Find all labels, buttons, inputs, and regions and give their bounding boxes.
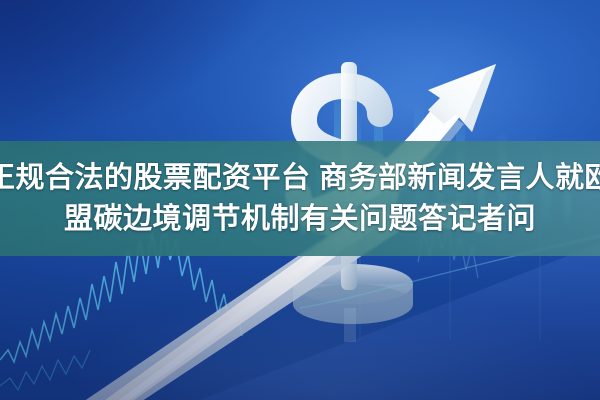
- news-thumbnail-image: 正规合法的股票配资平台 商务部新闻发言人就欧 盟碳边境调节机制有关问题答记者问: [0, 0, 600, 400]
- headline-line-1: 正规合法的股票配资平台 商务部新闻发言人就欧: [0, 159, 600, 198]
- headline-text-block: 正规合法的股票配资平台 商务部新闻发言人就欧 盟碳边境调节机制有关问题答记者问: [0, 141, 600, 256]
- headline-line-2: 盟碳边境调节机制有关问题答记者问: [64, 200, 536, 239]
